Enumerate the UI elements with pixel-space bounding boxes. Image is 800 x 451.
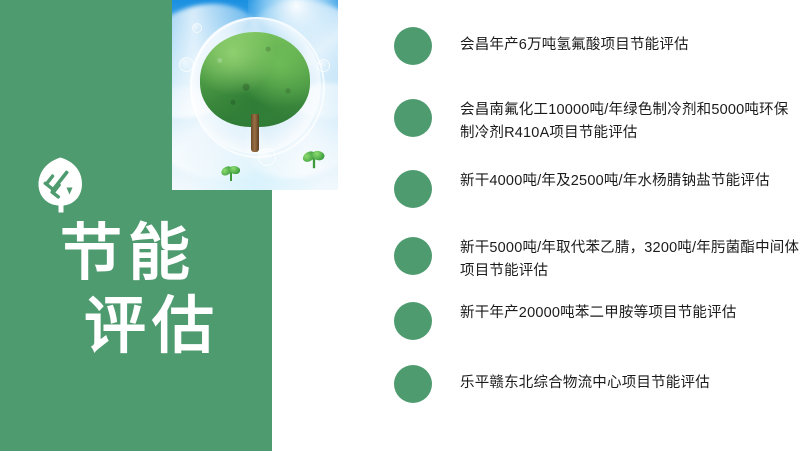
page-title: 节能 评估 bbox=[60, 222, 220, 358]
bubble-icon bbox=[179, 57, 194, 72]
list-item[interactable]: 新干年产20000吨苯二甲胺等项目节能评估 bbox=[394, 301, 800, 340]
bullet-dot-icon bbox=[394, 365, 432, 403]
list-item-label: 新干4000吨/年及2500吨/年水杨腈钠盐节能评估 bbox=[460, 170, 800, 193]
list-item-label: 新干年产20000吨苯二甲胺等项目节能评估 bbox=[460, 302, 800, 325]
list-item-label: 乐平赣东北综合物流中心项目节能评估 bbox=[460, 372, 800, 395]
sprout-icon bbox=[222, 165, 240, 181]
list-item[interactable]: 会昌年产6万吨氢氟酸项目节能评估 bbox=[394, 26, 800, 65]
bullet-dot-icon bbox=[394, 302, 432, 340]
sprout-icon bbox=[303, 150, 324, 168]
title-line-1: 节能 bbox=[60, 222, 220, 285]
bubble-icon bbox=[192, 23, 202, 33]
project-list: 会昌年产6万吨氢氟酸项目节能评估 会昌南氟化工10000吨/年绿色制冷剂和500… bbox=[394, 0, 800, 451]
list-item[interactable]: 新干4000吨/年及2500吨/年水杨腈钠盐节能评估 bbox=[394, 169, 800, 208]
hero-eco-image bbox=[172, 0, 338, 190]
bullet-dot-icon bbox=[394, 170, 432, 208]
bullet-dot-icon bbox=[394, 237, 432, 275]
bubble-icon bbox=[317, 59, 330, 72]
list-item-label: 会昌南氟化工10000吨/年绿色制冷剂和5000吨环保制冷剂R410A项目节能评… bbox=[460, 99, 800, 146]
list-item-label: 会昌年产6万吨氢氟酸项目节能评估 bbox=[460, 34, 800, 57]
list-item-label: 新干5000吨/年取代苯乙腈，3200吨/年肟菌酯中间体项目节能评估 bbox=[460, 237, 800, 284]
bullet-dot-icon bbox=[394, 27, 432, 65]
list-item[interactable]: 新干5000吨/年取代苯乙腈，3200吨/年肟菌酯中间体项目节能评估 bbox=[394, 236, 800, 284]
leaf-icon bbox=[36, 156, 84, 214]
list-item[interactable]: 会昌南氟化工10000吨/年绿色制冷剂和5000吨环保制冷剂R410A项目节能评… bbox=[394, 98, 800, 146]
bullet-dot-icon bbox=[394, 99, 432, 137]
list-item[interactable]: 乐平赣东北综合物流中心项目节能评估 bbox=[394, 364, 800, 403]
glass-bubble-rim bbox=[190, 17, 325, 158]
slide-root: 节能 评估 会昌年产6万吨氢氟酸项目节能评估 会昌南氟化工10000吨/年绿色制… bbox=[0, 0, 800, 451]
title-line-2: 评估 bbox=[84, 295, 220, 358]
